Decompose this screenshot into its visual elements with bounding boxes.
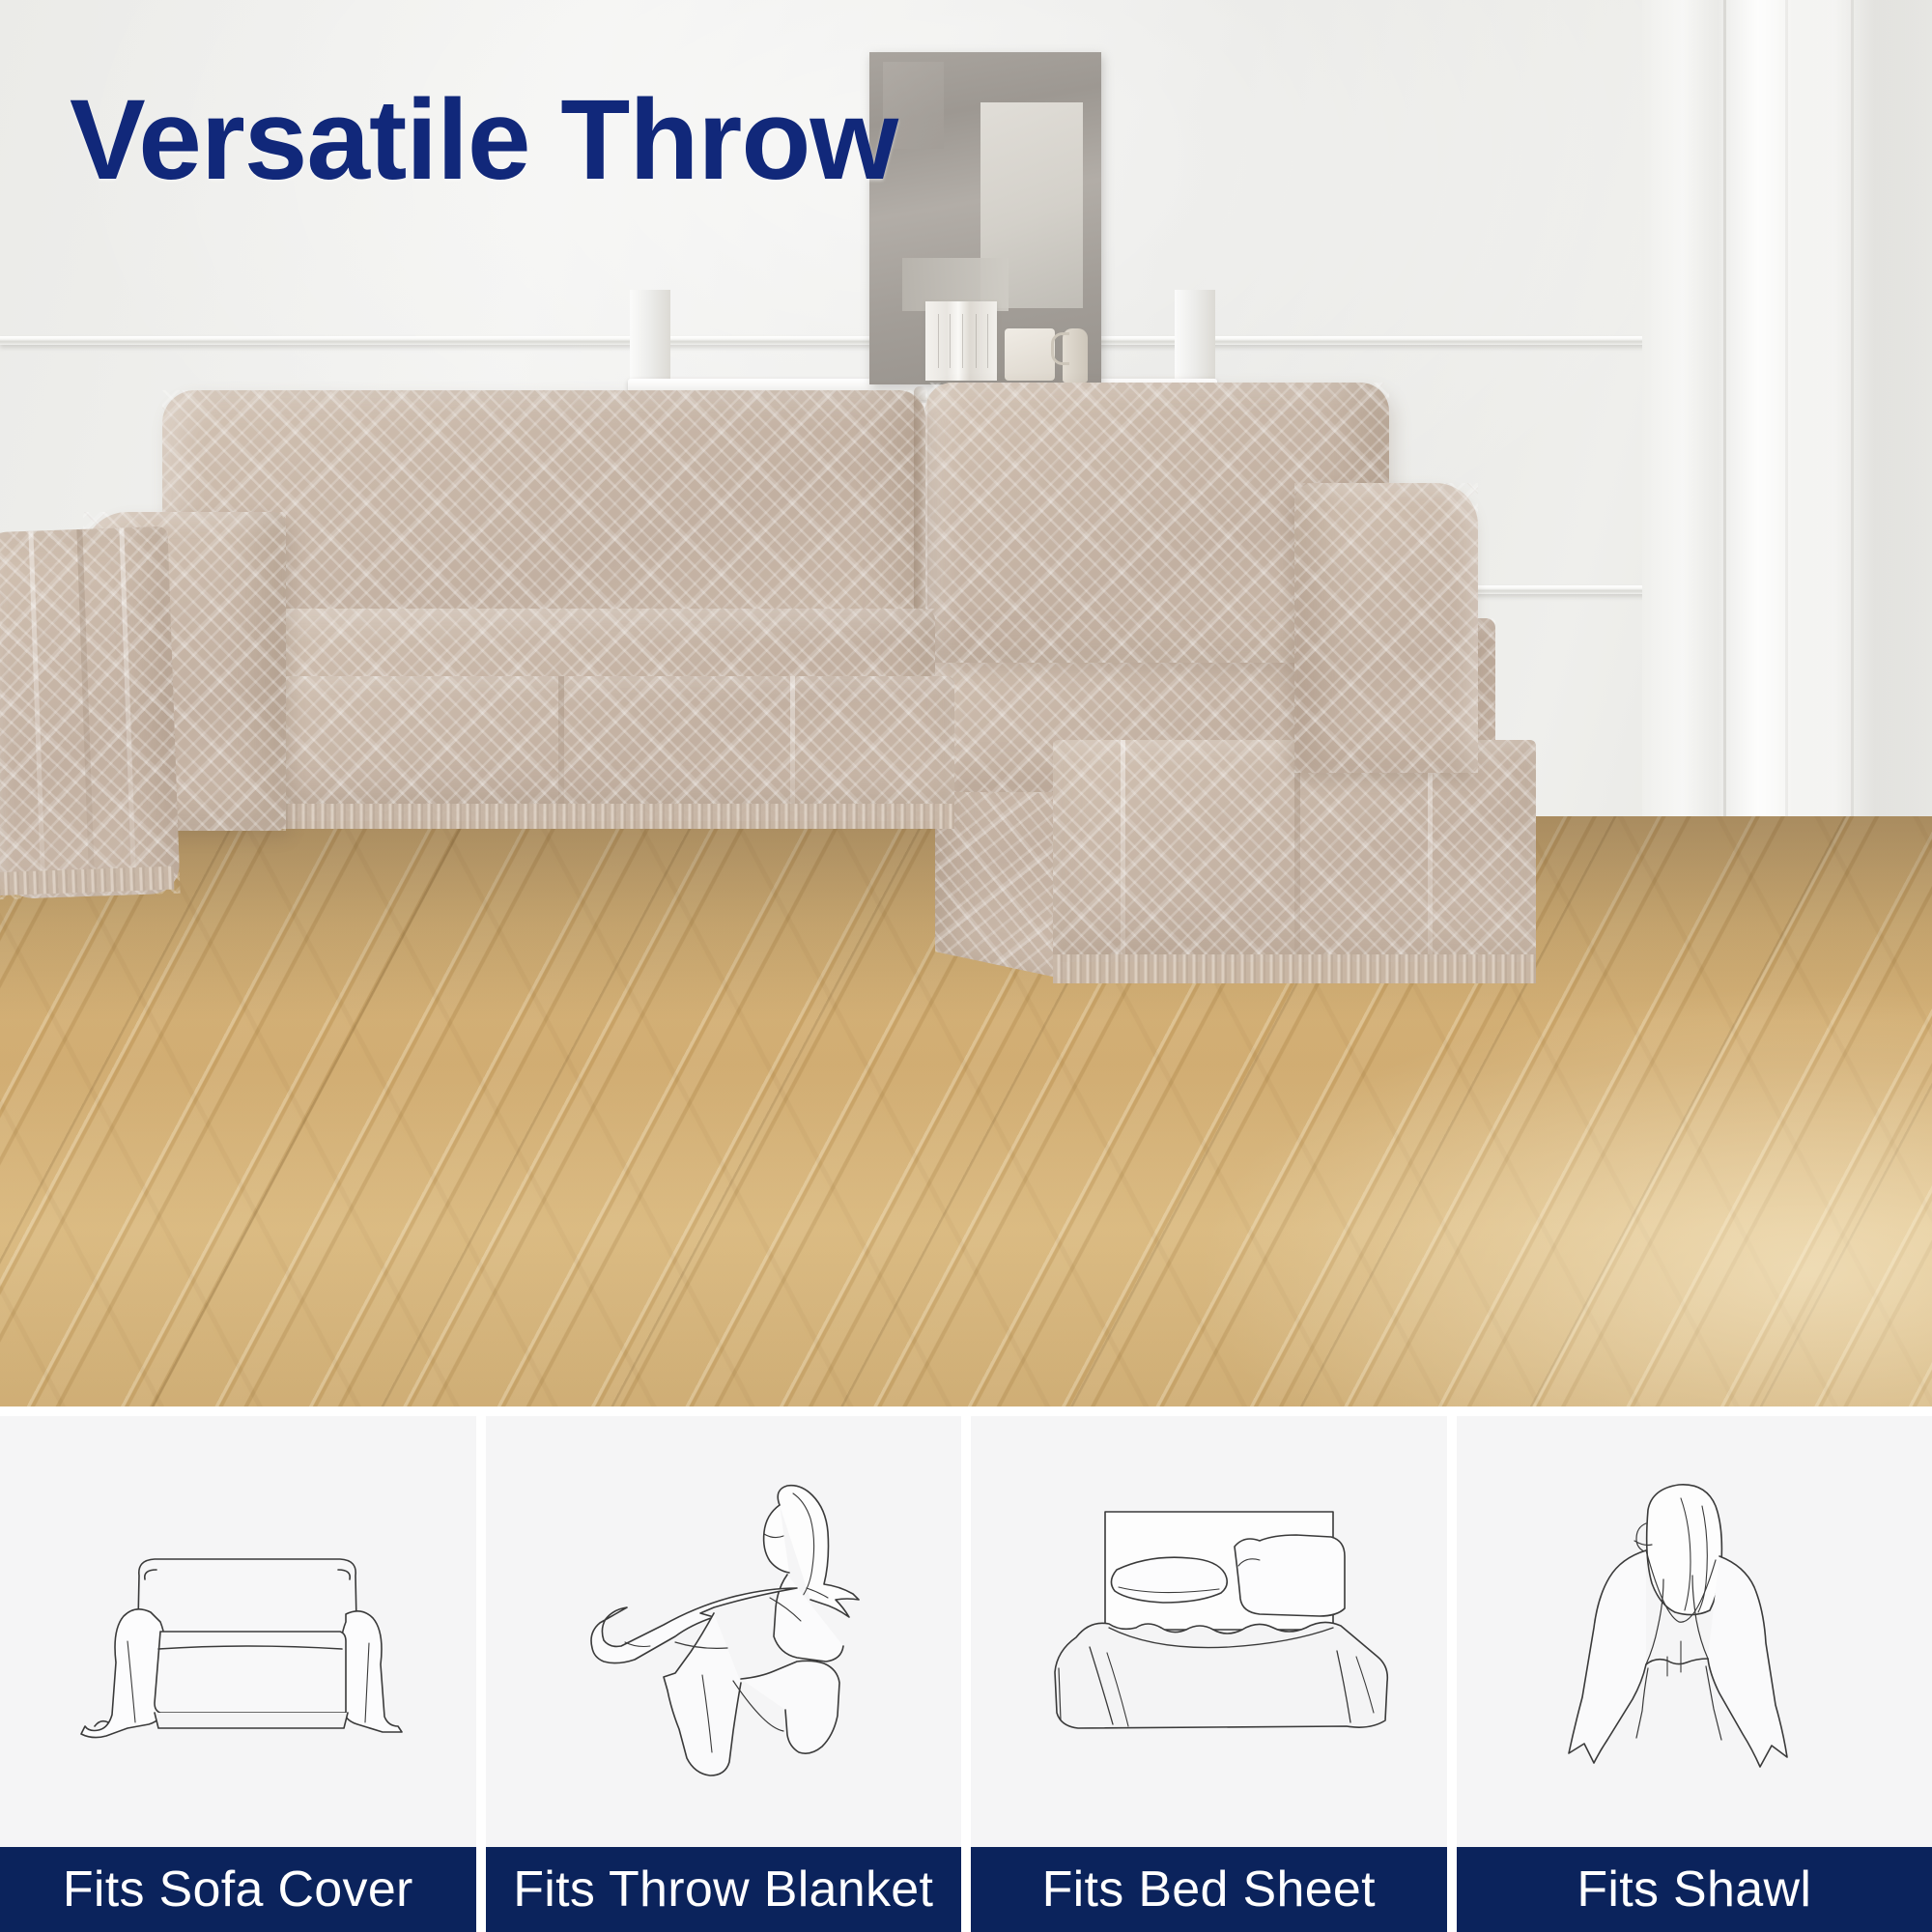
person-wearing-shawl-icon — [1501, 1467, 1888, 1796]
wall-pilaster — [1642, 0, 1932, 869]
seated-person-with-blanket-icon — [521, 1472, 926, 1791]
mantel-decor-block — [1005, 328, 1055, 381]
wall-molding-upper — [0, 336, 1700, 345]
panel-label-sofa-cover: Fits Sofa Cover — [0, 1847, 476, 1932]
panel-art-throw — [486, 1416, 962, 1847]
panel-art-shawl — [1457, 1416, 1932, 1847]
panel-throw-blanket[interactable]: Fits Throw Blanket — [486, 1406, 962, 1932]
panel-sofa-cover[interactable]: Fits Sofa Cover — [0, 1406, 476, 1932]
panel-art-bed — [971, 1416, 1447, 1847]
throw-chaise-front — [1053, 740, 1536, 962]
panel-label-bed-sheet: Fits Bed Sheet — [971, 1847, 1447, 1932]
decorative-vase-icon — [1063, 328, 1088, 383]
panel-label-throw-blanket: Fits Throw Blanket — [486, 1847, 962, 1932]
panel-art-sofa — [0, 1416, 476, 1847]
panel-label-shawl: Fits Shawl — [1457, 1847, 1932, 1932]
throw-fringe-chaise — [1053, 954, 1536, 983]
panel-shawl[interactable]: Fits Shawl — [1457, 1406, 1932, 1932]
draped-sofa-icon — [35, 1487, 440, 1776]
panel-bed-sheet[interactable]: Fits Bed Sheet — [971, 1406, 1447, 1932]
hero-photo: Versatile Throw — [0, 0, 1932, 1406]
page-title: Versatile Throw — [70, 83, 897, 197]
throw-arm-right — [1294, 483, 1478, 773]
use-case-panels: Fits Sofa Cover — [0, 1406, 1932, 1932]
stacked-books-icon — [925, 301, 997, 381]
bed-with-pillows-icon — [1001, 1477, 1416, 1786]
pilaster-shading — [1642, 0, 1932, 869]
throw-drape-left — [0, 526, 181, 899]
product-marketing-image: Versatile Throw — [0, 0, 1932, 1932]
